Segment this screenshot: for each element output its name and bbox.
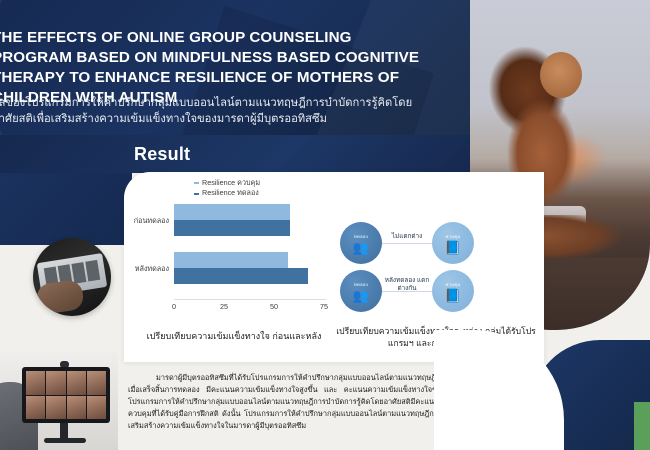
comparison-node-experimental-1: ทดลอง 👥 [340, 222, 382, 264]
comparison-node-control-2: ควบคุม 📘 [432, 270, 474, 312]
comparison-diagram: ทดลอง 👥 ไม่แตกต่าง ควบคุม 📘 ทดลอง 👥 หลัง… [340, 222, 480, 322]
legend-item-control: Resilience ควบคุม [194, 178, 260, 188]
monitor-base [44, 438, 86, 443]
chart-category-label-0: ก่อนทดลอง [134, 216, 169, 227]
legend-swatch-experimental [194, 193, 199, 195]
group-people-icon: 👥 [353, 289, 369, 302]
chart-legend: Resilience ควบคุม Resilience ทดลอง [194, 178, 260, 199]
accent-green-sliver [634, 402, 650, 450]
x-tick-25: 25 [220, 302, 228, 311]
bar-control-after [174, 252, 288, 268]
legend-item-experimental: Resilience ทดลอง [194, 188, 260, 198]
tablet-photo [33, 238, 111, 316]
x-tick-0: 0 [172, 302, 176, 311]
comparison-node-label-ctrl-2: ควบคุม [445, 281, 460, 288]
comparison-node-label-exp-2: ทดลอง [354, 281, 368, 288]
x-tick-50: 50 [270, 302, 278, 311]
bar-control-before [174, 204, 290, 220]
chart-caption: เปรียบเทียบความเข้มแข็งทางใจ ก่อนและหลัง [128, 330, 340, 343]
legend-label-control: Resilience ควบคุม [202, 178, 260, 188]
monitor-shape [22, 367, 110, 423]
comparison-node-experimental-2: ทดลอง 👥 [340, 270, 382, 312]
chart-plot-area: ก่อนทดลอง หลังทดลอง [174, 202, 324, 298]
white-scoop-decoration [434, 330, 564, 450]
section-heading-result: Result [134, 144, 190, 165]
legend-swatch-control [194, 182, 199, 184]
chart-category-label-1: หลังทดลอง [135, 264, 169, 275]
comparison-node-label-exp-1: ทดลอง [354, 233, 368, 240]
book-manual-icon: 📘 [445, 289, 461, 302]
legend-label-experimental: Resilience ทดลอง [202, 188, 259, 198]
chart-x-axis: 0 25 50 75 [174, 302, 324, 314]
comparison-relation-2: หลังทดลอง แตกต่างกัน [382, 277, 432, 294]
monitor-stand [60, 423, 68, 439]
comparison-node-label-ctrl-1: ควบคุม [445, 233, 460, 240]
poster-canvas: THE EFFECTS OF ONLINE GROUP COUNSELING P… [0, 0, 650, 450]
group-people-icon: 👥 [353, 241, 369, 254]
comparison-connector-1 [382, 243, 432, 244]
comparison-node-control-1: ควบคุม 📘 [432, 222, 474, 264]
x-tick-75: 75 [320, 302, 328, 311]
bar-experimental-before [174, 220, 290, 236]
chart-axis-line [174, 299, 326, 300]
video-call-tiles [26, 371, 106, 419]
comparison-row-1: ทดลอง 👥 ไม่แตกต่าง ควบคุม 📘 [340, 222, 480, 266]
book-manual-icon: 📘 [445, 241, 461, 254]
page-subtitle: ผลของโปรแกรมการให้คำปรึกษากลุ่มแบบออนไลน… [0, 96, 432, 128]
video-conference-photo [0, 352, 118, 450]
comparison-relation-1: ไม่แตกต่าง [382, 233, 432, 241]
bar-experimental-after [174, 268, 308, 284]
hand-shape [35, 279, 85, 315]
result-band [0, 135, 470, 173]
comparison-row-2: ทดลอง 👥 หลังทดลอง แตกต่างกัน ควบคุม 📘 [340, 270, 480, 314]
resilience-bar-chart: Resilience ควบคุม Resilience ทดลอง ก่อนท… [128, 176, 328, 326]
